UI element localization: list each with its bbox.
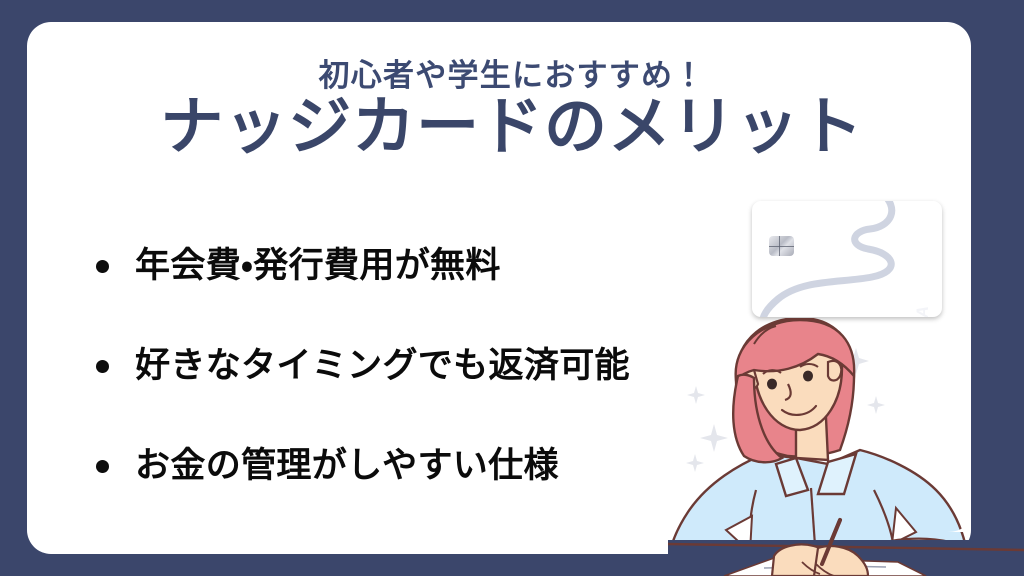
list-item: お金の管理がしやすい仕様 — [96, 416, 736, 516]
eye-right — [803, 371, 813, 382]
list-item: 年会費・発行費用が無料 — [96, 216, 736, 316]
benefit-list: 年会費・発行費用が無料 好きなタイミングでも返済可能 お金の管理がしやすい仕様 — [96, 216, 736, 516]
subtitle: 初心者や学生におすすめ！ — [0, 50, 1024, 95]
card-brand-label: VISA — [913, 305, 933, 317]
benefit-label: 好きなタイミングでも返済可能 — [135, 347, 630, 386]
ear-right — [828, 361, 841, 381]
woman-writing-illustration — [668, 318, 1024, 576]
benefit-label: 年会費・発行費用が無料 — [135, 247, 501, 286]
benefit-label: お金の管理がしやすい仕様 — [135, 447, 559, 486]
card-swirl-decoration — [752, 201, 942, 317]
bullet-icon — [96, 360, 109, 373]
bullet-icon — [96, 260, 109, 273]
eye-left — [767, 379, 777, 390]
slide-canvas: 初心者や学生におすすめ！ ナッジカードのメリット 年会費・発行費用が無料 好きな… — [0, 0, 1024, 576]
list-item: 好きなタイミングでも返済可能 — [96, 316, 736, 416]
card-chip-icon — [769, 236, 794, 256]
credit-card-image: VISA — [752, 201, 942, 317]
bullet-icon — [96, 460, 109, 473]
page-title: ナッジカードのメリット — [0, 94, 1024, 160]
